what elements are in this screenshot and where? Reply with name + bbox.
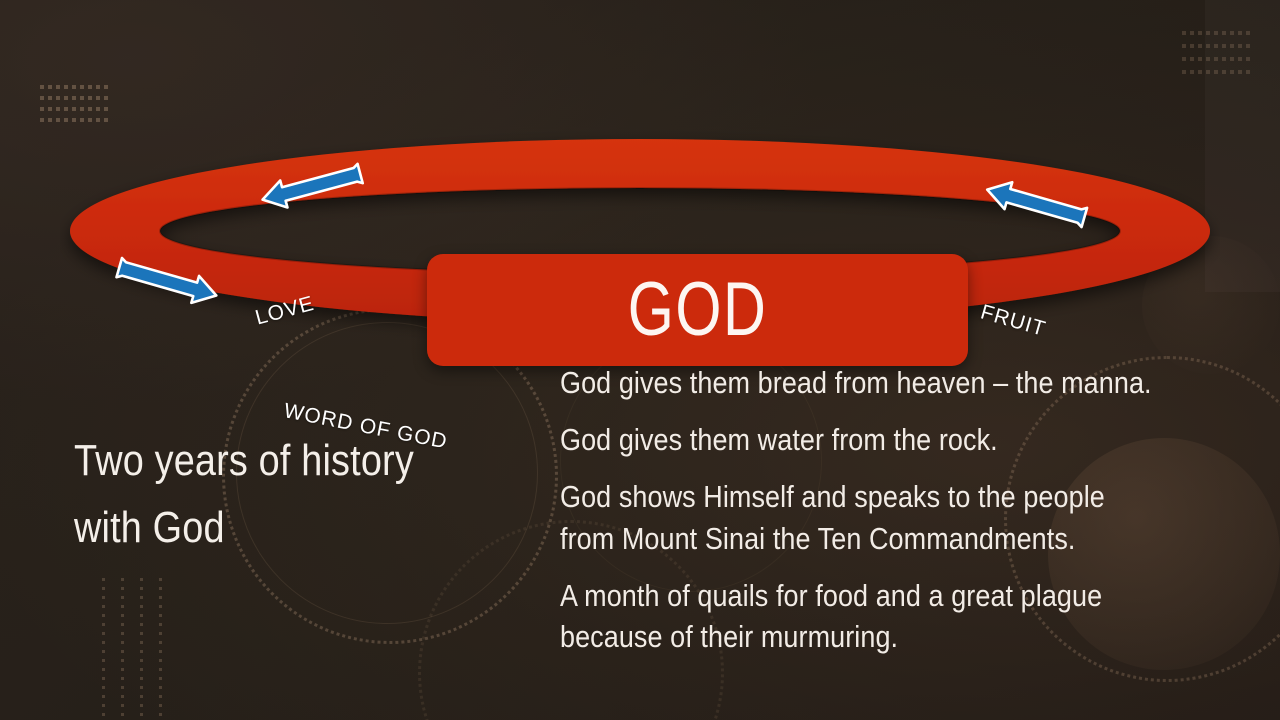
center-node-god[interactable]: GOD (427, 254, 968, 366)
bullet-item: God gives them bread from heaven – the m… (560, 362, 1169, 403)
bullet-item: A month of quails for food and a great p… (560, 575, 1169, 657)
slide-headline: Two years of history with God (74, 428, 461, 562)
bullet-list: God gives them bread from heaven – the m… (560, 362, 1260, 673)
cycle-diagram: GOD LOVE FRUIT WORD OF GOD (60, 118, 1220, 348)
bullet-item: God shows Himself and speaks to the peop… (560, 476, 1169, 558)
slide-canvas: GOD LOVE FRUIT WORD OF GOD Two years of … (0, 0, 1280, 720)
bullet-item: God gives them water from the rock. (560, 419, 1169, 460)
center-node-label: GOD (628, 272, 768, 348)
